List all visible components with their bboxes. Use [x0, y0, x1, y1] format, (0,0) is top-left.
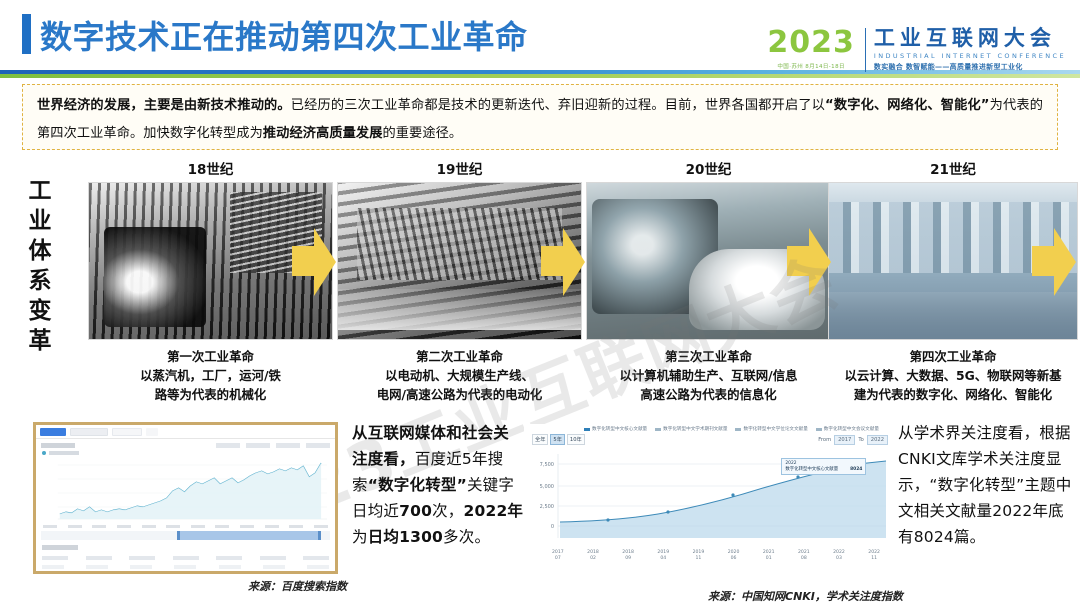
- era-caption-line1: 以计算机辅助生产、互联网/信息: [586, 366, 831, 385]
- arrow-right-icon: [541, 228, 585, 296]
- logo-slogan: 数实融合 数智赋能——高质量推进新型工业化: [874, 62, 1066, 72]
- cnki-x-axis-labels: 201707 201802 201809 201904 201911 20200…: [524, 550, 894, 562]
- baidu-legend-dot-icon: [42, 451, 46, 455]
- cnki-xtick: 201802: [587, 550, 599, 562]
- title-accent-bar: [22, 14, 31, 54]
- cnki-range-to-label: To: [858, 437, 863, 443]
- era-caption-title: 第三次工业革命: [586, 348, 831, 366]
- cnki-range-from-label: From: [818, 437, 831, 443]
- era-century-label: 20世纪: [586, 158, 831, 178]
- cnki-legend[interactable]: 数字化转型中文核心文献量 数字化转型中文学术期刊文献量 数字化转型中文学位论文文…: [524, 424, 894, 432]
- baidu-table-data-row: [42, 565, 329, 569]
- vertical-label-char-0: 工: [22, 176, 58, 206]
- baidu-line-chart: [42, 457, 329, 525]
- arrow-right-icon: [292, 228, 336, 296]
- logo-year-subtitle: 中国·苏州 8月14日-18日: [767, 62, 855, 70]
- era-caption-line2: 高速公路为代表的信息化: [586, 385, 831, 404]
- cnki-legend-label: 数字化转型中文学位论文文献量: [743, 426, 807, 432]
- callout-box: 世界经济的发展，主要是由新技术推动的。已经历的三次工业革命都是技术的更新迭代、弃…: [22, 84, 1058, 150]
- baidu-keyword-field[interactable]: [70, 428, 108, 436]
- baidu-chart-title-placeholder: [41, 443, 75, 448]
- logo-year: 2023: [767, 28, 855, 58]
- mid-bold-5: 日均1300: [368, 528, 443, 546]
- cnki-tooltip-label: 数字化转型中文核心文献量: [785, 467, 838, 472]
- svg-text:0: 0: [551, 524, 554, 530]
- era-caption-line2: 路等为代表的机械化: [88, 385, 333, 404]
- callout-text-1: 已经历的三次工业革命都是技术的更新迭代、弃旧迎新的过程。目前，世界各国都开启了以: [291, 98, 825, 113]
- baidu-chart-meta: [36, 439, 335, 448]
- baidu-chart-svg: [42, 457, 329, 525]
- arrow-right-icon: [787, 228, 831, 296]
- mid-bold-3: 700: [399, 502, 432, 520]
- baidu-range-scrollbar[interactable]: [41, 531, 330, 540]
- arrow-right-icon: [1032, 228, 1076, 296]
- logo-name-en: INDUSTRIAL INTERNET CONFERENCE: [874, 52, 1066, 60]
- cnki-legend-item-0[interactable]: 数字化转型中文核心文献量: [584, 426, 647, 432]
- baidu-index-screenshot: [33, 422, 338, 574]
- mid-plain-3: 次，: [432, 502, 463, 520]
- baidu-commentary-text: 从互联网媒体和社会关注度看，百度近5年搜索“数字化转型”关键字日均近700次，2…: [352, 420, 524, 550]
- vertical-label-char-4: 变: [22, 296, 58, 326]
- logo-divider: [865, 28, 866, 72]
- baidu-legend[interactable]: [36, 448, 335, 455]
- cnki-xtick: 201809: [622, 550, 634, 562]
- baidu-primary-button[interactable]: [40, 428, 66, 436]
- cnki-range-tabs[interactable]: 全年 5年 10年: [532, 434, 585, 445]
- cnki-range-from-value[interactable]: 2017: [834, 435, 855, 445]
- cnki-toolbar: 全年 5年 10年 From 2017 To 2022: [524, 432, 894, 445]
- cnki-tooltip: 2022 数字化转型中文核心文献量8024: [781, 458, 866, 475]
- mid-plain-5: 多次。: [443, 528, 490, 546]
- svg-text:5,000: 5,000: [540, 484, 554, 490]
- era-caption-1: 第一次工业革命 以蒸汽机，工厂，运河/铁 路等为代表的机械化: [88, 348, 333, 404]
- cnki-xtick: 202006: [728, 550, 740, 562]
- mid-bold-2: “数字化转型”: [368, 476, 467, 494]
- vertical-label-char-1: 业: [22, 206, 58, 236]
- callout-bold-lead: 世界经济的发展，主要是由新技术推动的。: [37, 98, 291, 113]
- vertical-label-char-3: 系: [22, 266, 58, 296]
- cnki-range-to-value[interactable]: 2022: [867, 435, 888, 445]
- header-rule-green: [0, 74, 1080, 78]
- era-caption-3: 第三次工业革命 以计算机辅助生产、互联网/信息 高速公路为代表的信息化: [586, 348, 831, 404]
- svg-text:2,500: 2,500: [540, 504, 554, 510]
- cnki-legend-item-1[interactable]: 数字化转型中文学术期刊文献量: [655, 426, 727, 432]
- era-caption-title: 第二次工业革命: [337, 348, 582, 366]
- cnki-legend-label: 数字化转型中文核心文献量: [592, 426, 647, 432]
- conference-logo: 2023 中国·苏州 8月14日-18日 工业互联网大会 INDUSTRIAL …: [767, 28, 1066, 72]
- era-century-label: 18世纪: [88, 158, 333, 178]
- cnki-range-selector[interactable]: From 2017 To 2022: [818, 434, 888, 445]
- cnki-legend-label: 数字化转型中文会议文献量: [824, 426, 879, 432]
- cnki-xtick: 201707: [552, 550, 564, 562]
- cnki-legend-label: 数字化转型中文学术期刊文献量: [663, 426, 727, 432]
- svg-text:7,500: 7,500: [540, 462, 554, 468]
- source-caption-right: 来源：中国知网CNKI，学术关注度指数: [708, 588, 903, 604]
- cnki-xtick: 202101: [763, 550, 775, 562]
- baidu-legend-label-placeholder: [49, 451, 79, 455]
- baidu-stats-table: [36, 545, 335, 569]
- baidu-range-thumb[interactable]: [177, 531, 322, 540]
- baidu-compare-field[interactable]: [112, 428, 142, 436]
- baidu-chart-controls[interactable]: [216, 443, 330, 448]
- slide-header: 数字技术正在推动第四次工业革命 2023 中国·苏州 8月14日-18日 工业互…: [0, 0, 1080, 80]
- callout-text-3: 的重要途径。: [382, 126, 462, 141]
- era-caption-title: 第四次工业革命: [828, 348, 1078, 366]
- cnki-xtick: 202108: [798, 550, 810, 562]
- callout-bold-quote: “数字化、网络化、智能化”: [825, 98, 990, 113]
- cnki-xtick: 202211: [868, 550, 880, 562]
- era-caption-line2: 建为代表的数字化、网络化、智能化: [828, 385, 1078, 404]
- cnki-tooltip-row: 数字化转型中文核心文献量8024: [785, 467, 862, 473]
- cnki-tab-10y[interactable]: 10年: [567, 434, 585, 445]
- vertical-section-label: 工 业 体 系 变 革: [22, 176, 58, 356]
- page-title: 数字技术正在推动第四次工业革命: [40, 12, 528, 58]
- callout-paragraph: 世界经济的发展，主要是由新技术推动的。已经历的三次工业革命都是技术的更新迭代、弃…: [37, 92, 1043, 148]
- cnki-area-chart: 7,500 5,000 2,500 0 2022 数字化转型中文核心文献量802…: [528, 446, 890, 550]
- era-caption-4: 第四次工业革命 以云计算、大数据、5G、物联网等新基 建为代表的数字化、网络化、…: [828, 348, 1078, 404]
- cnki-tooltip-value: 8024: [850, 467, 862, 472]
- era-caption-2: 第二次工业革命 以电动机、大规模生产线、 电网/高速公路为代表的电动化: [337, 348, 582, 404]
- cnki-legend-item-3[interactable]: 数字化转型中文会议文献量: [816, 426, 879, 432]
- cnki-chart-screenshot: 数字化转型中文核心文献量 数字化转型中文学术期刊文献量 数字化转型中文学位论文文…: [524, 424, 894, 574]
- baidu-search-button[interactable]: [146, 428, 158, 436]
- cnki-tab-5y[interactable]: 5年: [550, 434, 565, 445]
- era-caption-line1: 以蒸汽机，工厂，运河/铁: [88, 366, 333, 385]
- cnki-legend-item-2[interactable]: 数字化转型中文学位论文文献量: [735, 426, 807, 432]
- mid-bold-4: 2022年: [463, 502, 523, 520]
- cnki-xtick: 201904: [657, 550, 669, 562]
- logo-year-block: 2023 中国·苏州 8月14日-18日: [767, 28, 865, 70]
- logo-name-cn: 工业互联网大会: [874, 28, 1066, 49]
- vertical-label-char-2: 体: [22, 236, 58, 266]
- logo-name-block: 工业互联网大会 INDUSTRIAL INTERNET CONFERENCE 数…: [874, 28, 1066, 72]
- baidu-toolbar: [36, 425, 335, 439]
- era-caption-line1: 以云计算、大数据、5G、物联网等新基: [828, 366, 1078, 385]
- baidu-x-axis: [36, 525, 335, 528]
- slide-root: 数字技术正在推动第四次工业革命 2023 中国·苏州 8月14日-18日 工业互…: [0, 0, 1080, 608]
- era-century-label: 21世纪: [828, 158, 1078, 178]
- source-caption-left: 来源：百度搜索指数: [248, 578, 347, 594]
- mid-plain-4: 为: [352, 528, 368, 546]
- era-caption-line2: 电网/高速公路为代表的电动化: [337, 385, 582, 404]
- era-caption-line1: 以电动机、大规模生产线、: [337, 366, 582, 385]
- baidu-table-header-row: [42, 556, 329, 560]
- callout-bold-tail: 推动经济高质量发展: [263, 126, 383, 141]
- vertical-label-char-5: 革: [22, 326, 58, 356]
- baidu-table-title-placeholder: [42, 545, 78, 550]
- cnki-xtick: 201911: [693, 550, 705, 562]
- era-caption-title: 第一次工业革命: [88, 348, 333, 366]
- cnki-commentary-text: 从学术界关注度看，根据CNKI文库学术关注度显示，“数字化转型”主题中文相关文献…: [898, 420, 1074, 550]
- era-century-label: 19世纪: [337, 158, 582, 178]
- cnki-xtick: 202203: [833, 550, 845, 562]
- cnki-tab-all[interactable]: 全年: [532, 434, 548, 445]
